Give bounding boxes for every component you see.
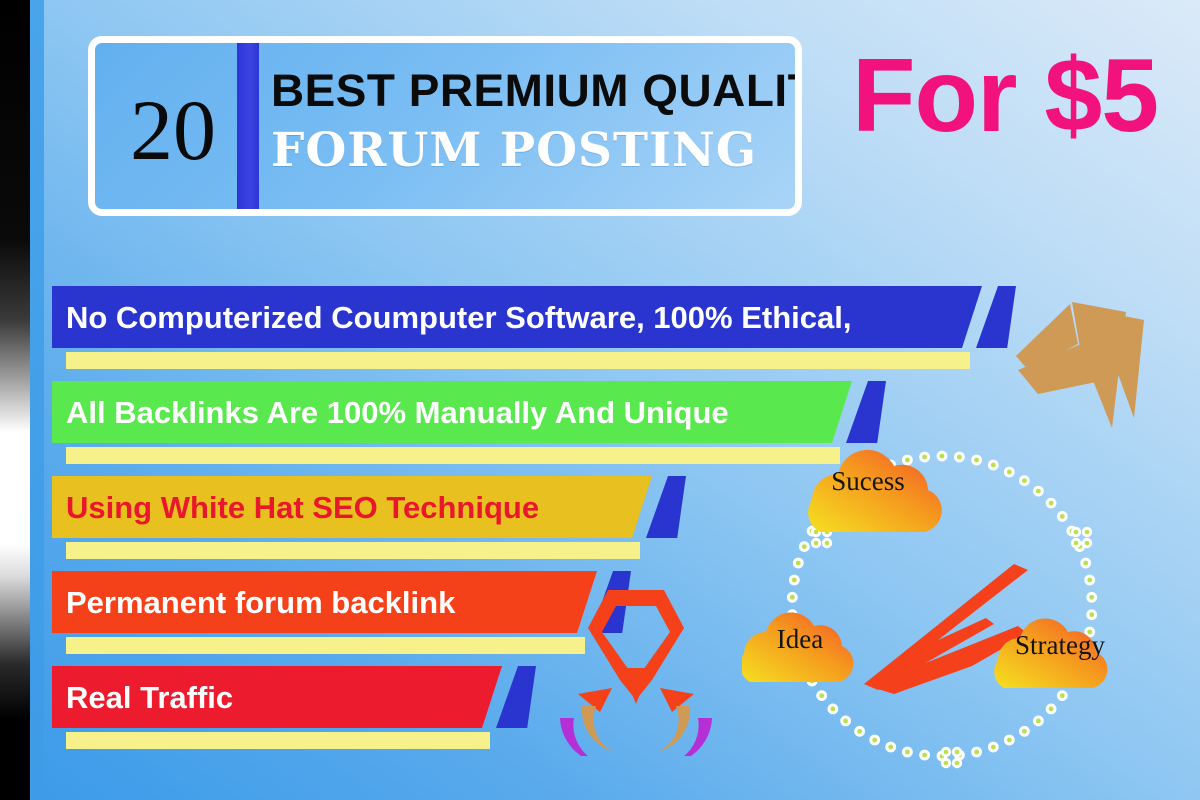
feature-underline [66, 542, 640, 559]
feature-text: No Computerized Coumputer Software, 100%… [66, 302, 851, 333]
feature-underline [66, 447, 840, 464]
quantity-number: 20 [113, 67, 233, 193]
tan-bolt-decoration [1008, 278, 1188, 438]
feature-underline [66, 732, 490, 749]
feature-bar: All Backlinks Are 100% Manually And Uniq… [52, 381, 852, 443]
header-banner: 20 BEST PREMIUM QUALITY FORUM POSTING [88, 36, 802, 216]
page-title-primary: BEST PREMIUM QUALITY [271, 65, 795, 117]
price-label: For $5 [852, 44, 1158, 148]
cloud-label-success: Sucess [788, 466, 948, 497]
cloud-label-strategy: Strategy [990, 630, 1130, 661]
promo-poster: 20 BEST PREMIUM QUALITY FORUM POSTING Fo… [0, 0, 1200, 800]
feature-underline [66, 352, 970, 369]
cycle-diagram: Sucess Idea Strategy [742, 428, 1142, 778]
feature-text: Permanent forum backlink [66, 587, 455, 618]
feature-bar: Real Traffic [52, 666, 502, 728]
feature-bar: Permanent forum backlink [52, 571, 597, 633]
feature-arrow-tip [646, 476, 686, 538]
page-title-secondary: FORUM POSTING [271, 123, 785, 178]
feature-bar: Using White Hat SEO Technique [52, 476, 652, 538]
shield-crescents-decoration [556, 576, 716, 756]
feature-bar: No Computerized Coumputer Software, 100%… [52, 286, 982, 348]
feature-text: Real Traffic [66, 682, 233, 713]
left-blue-strip [30, 0, 44, 800]
left-edge-gradient-strip [0, 0, 30, 800]
feature-arrow-tip [496, 666, 536, 728]
header-divider-bar [237, 43, 259, 213]
cloud-label-idea: Idea [736, 624, 864, 655]
feature-underline [66, 637, 585, 654]
feature-text: All Backlinks Are 100% Manually And Uniq… [66, 397, 729, 428]
header-title-group: BEST PREMIUM QUALITY FORUM POSTING [271, 55, 785, 178]
feature-text: Using White Hat SEO Technique [66, 492, 539, 523]
